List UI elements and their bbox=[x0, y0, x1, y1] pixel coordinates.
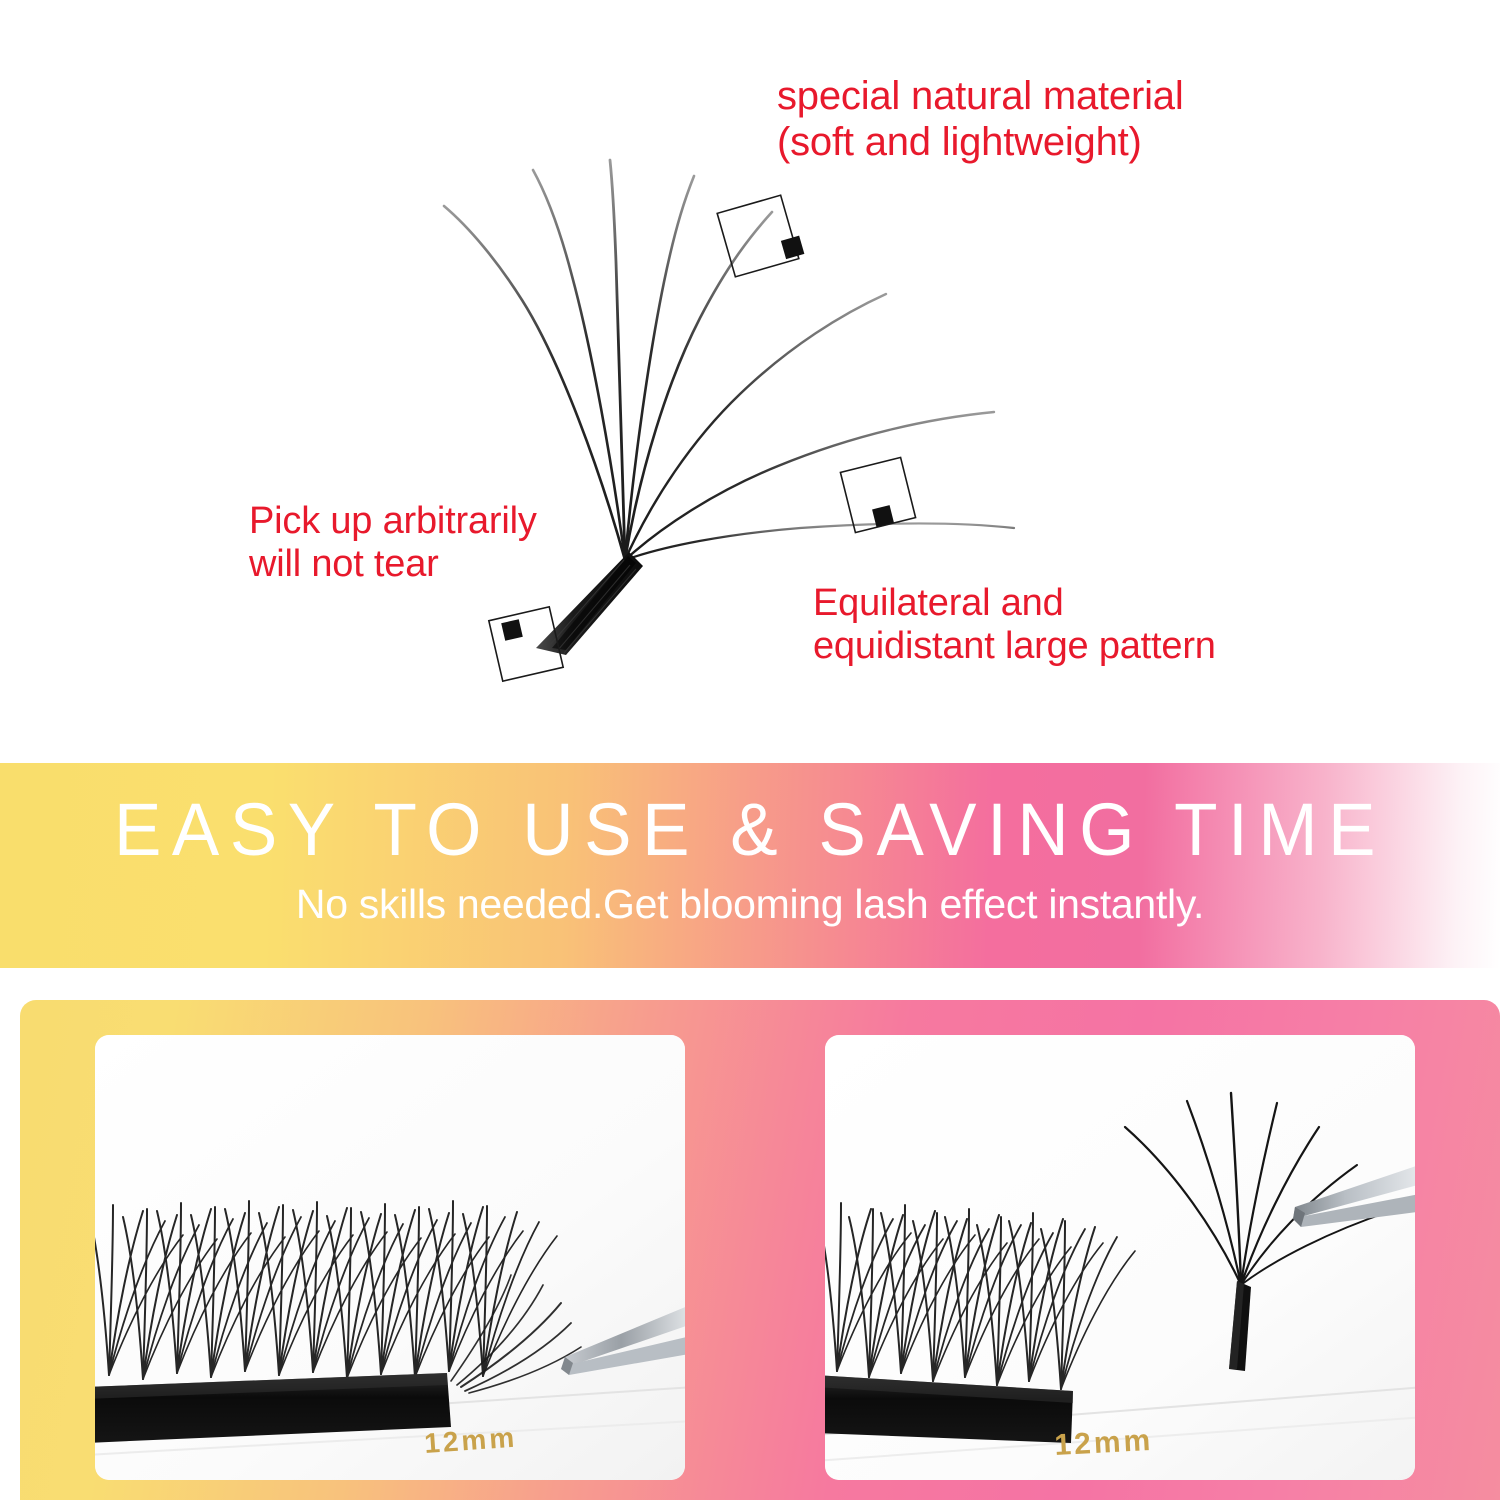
callout-no-tear: Pick up arbitrarily will not tear bbox=[249, 500, 537, 587]
headline-banner: EASY TO USE & SAVING TIME No skills need… bbox=[0, 763, 1500, 968]
callout-material: special natural material (soft and light… bbox=[777, 74, 1184, 165]
lash-fan-photo: 12mm bbox=[825, 1035, 1415, 1480]
lash-tray-photo: 12mm bbox=[95, 1035, 685, 1480]
photo-panel: 12mm bbox=[20, 1000, 1500, 1500]
lash-fan-diagram bbox=[0, 0, 1500, 755]
size-marking-left: 12mm bbox=[423, 1422, 518, 1459]
product-infographic: special natural material (soft and light… bbox=[0, 0, 1500, 1500]
banner-title: EASY TO USE & SAVING TIME bbox=[30, 787, 1470, 872]
banner-subtitle: No skills needed.Get blooming lash effec… bbox=[0, 881, 1500, 928]
size-marking-right: 12mm bbox=[1054, 1424, 1154, 1462]
photo-card-lash-fan[interactable]: 12mm bbox=[825, 1035, 1415, 1480]
callout-equidistant: Equilateral and equidistant large patter… bbox=[813, 582, 1216, 669]
hero-illustration-section: special natural material (soft and light… bbox=[0, 0, 1500, 755]
callout-marker-middle bbox=[840, 457, 915, 532]
lash-base bbox=[536, 552, 643, 655]
photo-card-lash-tray[interactable]: 12mm bbox=[95, 1035, 685, 1480]
